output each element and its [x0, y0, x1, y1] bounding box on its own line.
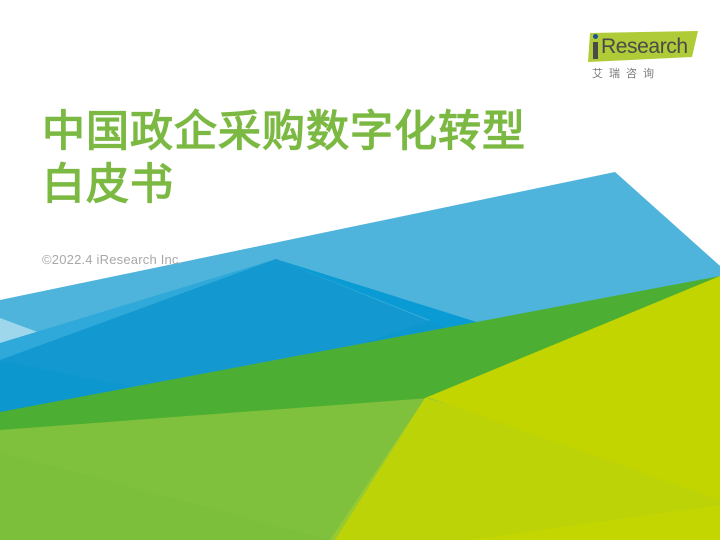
title-line-2: 白皮书: [42, 159, 602, 212]
logo-i-dot-icon: [593, 34, 598, 39]
title-line-1: 中国政企采购数字化转型: [42, 106, 602, 159]
logo-i-stem-icon: [593, 42, 598, 59]
copyright-text: ©2022.4 iResearch Inc.: [42, 252, 182, 268]
iresearch-logo: Research 艾瑞咨询: [588, 31, 700, 87]
logo-wordmark: Research: [588, 31, 700, 65]
logo-chinese-name: 艾瑞咨询: [592, 67, 700, 81]
cover-slide: Research 艾瑞咨询 中国政企采购数字化转型 白皮书 ©2022.4 iR…: [0, 0, 720, 540]
page-title: 中国政企采购数字化转型 白皮书: [42, 106, 602, 212]
logo-research-text: Research: [601, 36, 688, 57]
